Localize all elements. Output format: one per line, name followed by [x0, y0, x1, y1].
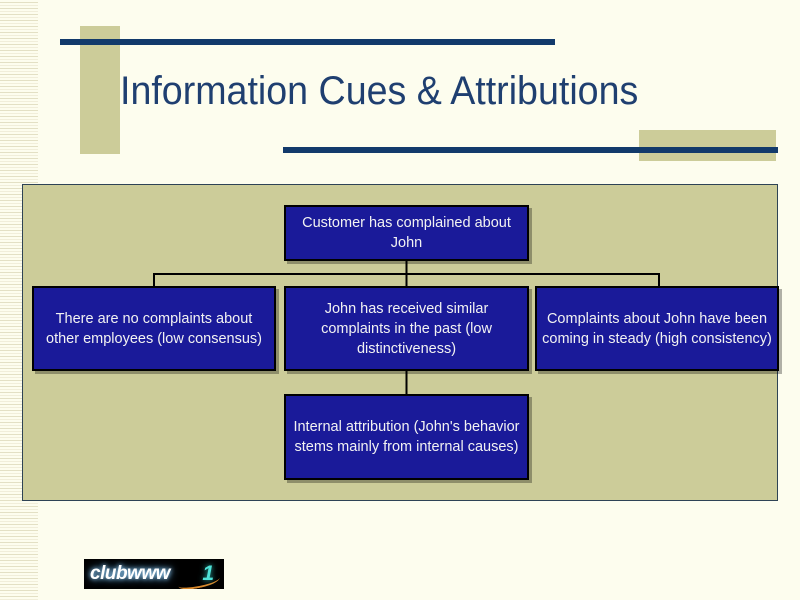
node-high-consistency[interactable]: Complaints about John have been coming i…: [535, 286, 779, 371]
node-root-cue[interactable]: Customer has complained about John: [284, 205, 529, 261]
node-root-cue-label: Customer has complained about John: [286, 213, 527, 253]
header-rule-bottom: [283, 147, 778, 153]
clubwww1-logo-word: clubwww: [90, 563, 170, 585]
header-rule-top: [60, 39, 555, 45]
node-high-consistency-label: Complaints about John have been coming i…: [537, 309, 777, 349]
clubwww1-logo-numeral: 1: [202, 562, 214, 586]
header-accent-block-left: [80, 26, 120, 154]
clubwww1-logo[interactable]: clubwww 1: [84, 559, 224, 589]
slide-canvas: Information Cues & Attributions Customer…: [0, 0, 800, 600]
node-low-distinctiveness-label: John has received similar complaints in …: [286, 299, 527, 359]
node-internal-attribution[interactable]: Internal attribution (John's behavior st…: [284, 394, 529, 480]
node-low-consensus[interactable]: There are no complaints about other empl…: [32, 286, 276, 371]
header-accent-block-right: [639, 130, 776, 161]
node-low-distinctiveness[interactable]: John has received similar complaints in …: [284, 286, 529, 371]
page-title: Information Cues & Attributions: [120, 66, 740, 116]
node-internal-attribution-label: Internal attribution (John's behavior st…: [286, 417, 527, 457]
node-low-consensus-label: There are no complaints about other empl…: [34, 309, 274, 349]
diagram-panel: Customer has complained about John There…: [22, 184, 778, 501]
clubwww1-logo-swoosh-icon: [177, 573, 220, 589]
